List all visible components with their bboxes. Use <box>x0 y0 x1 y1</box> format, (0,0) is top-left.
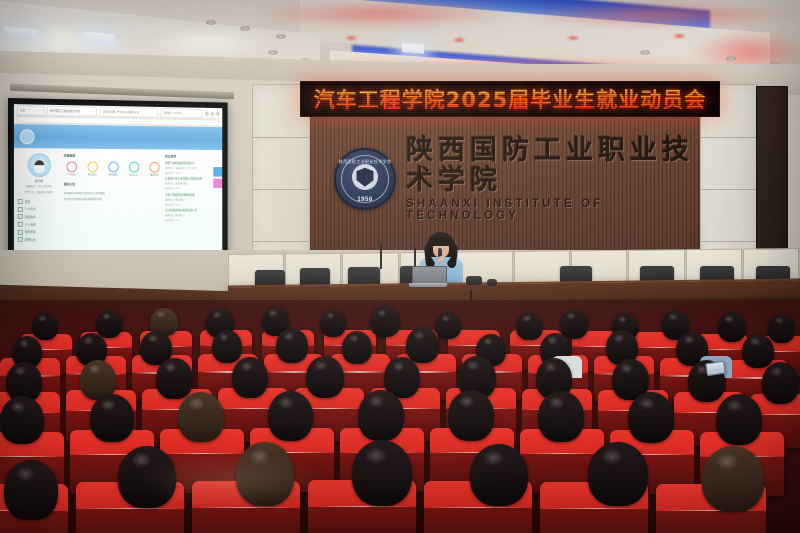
job-detail: 招聘岗位：新能源检测员 <box>165 181 218 185</box>
sidebar-item-home[interactable]: 首页 <box>18 199 60 204</box>
sidebar-menu[interactable]: 首页 个人信息 就业协议 个人简历 我的投递 招聘信息 <box>18 199 60 242</box>
job-title: 吉利汽车集团宝鸡制造基地 <box>165 192 218 196</box>
audience-head <box>232 357 268 398</box>
led-banner: 汽车工程学院2025届毕业生就业动员会 <box>300 81 720 117</box>
quick-action-destination[interactable]: 就业去向 <box>126 162 141 177</box>
job-date: 发布时间：03-15 <box>165 202 218 206</box>
profile-meta-major: 所学专业：新能源汽车技术 <box>25 191 53 195</box>
sidebar-item-label: 招聘信息 <box>25 237 36 241</box>
audience-head <box>178 392 224 442</box>
audience-head <box>0 396 44 444</box>
audience-head <box>435 312 461 339</box>
notices-title: 通知公告 <box>64 182 162 186</box>
audience-head <box>32 312 58 340</box>
sidebar-item-applications[interactable]: 我的投递 <box>18 229 60 234</box>
job-title: 法士特齿轮传动有限责任公司 <box>165 208 218 212</box>
laptop <box>409 266 447 288</box>
school-signage: 陕西国防工业职业技术学院 ★★★ 1958 陕西国防工业职业技术学院 SHAAN… <box>334 146 714 212</box>
send-icon <box>18 229 23 234</box>
red-accent-lamp <box>672 34 686 38</box>
audience-head <box>762 362 799 404</box>
laptop-keyboard <box>409 283 447 287</box>
light-reflection <box>140 450 320 510</box>
panel-lamp <box>402 43 424 54</box>
quick-action-resume[interactable]: 我的简历 <box>85 162 100 177</box>
red-accent-lamp <box>452 38 466 42</box>
quick-action-label: 我的简历 <box>88 174 97 177</box>
sidebar-item-label: 首页 <box>25 200 30 204</box>
profile-name: 张同学 <box>35 179 44 183</box>
red-accent-lamp <box>344 36 358 40</box>
job-detail: 招聘岗位：机加操作工 <box>165 213 218 217</box>
audience-head <box>628 392 674 443</box>
home-icon <box>18 199 23 204</box>
downlight <box>640 50 650 55</box>
profile-meta-department: 所属院系：汽车工程学院 <box>26 185 52 189</box>
sidebar-item-label: 就业协议 <box>25 215 36 219</box>
browser-tab[interactable]: 首页 <box>17 105 44 115</box>
job-detail: 招聘岗位：装配技术员 | 生产技术员 <box>165 165 218 169</box>
audience-head <box>156 358 193 399</box>
auditorium-scene: 汽车工程学院2025届毕业生就业动员会 陕西国防工业职业技术学院 ★★★ 195… <box>0 0 800 533</box>
bell-circle-icon <box>149 162 159 173</box>
audience-head <box>4 460 58 520</box>
audience-head <box>742 334 774 368</box>
quick-action-label: 通知消息 <box>150 174 158 177</box>
quick-action-notice[interactable]: 通知消息 <box>147 162 162 177</box>
audience-head <box>448 390 494 441</box>
school-emblem-icon: 陕西国防工业职业技术学院 ★★★ 1958 <box>334 148 396 210</box>
avatar <box>27 153 50 177</box>
doc-icon <box>18 214 23 219</box>
microphone-stand <box>380 243 382 269</box>
quick-action-label: 签约管理 <box>109 174 118 177</box>
sidebar-item-personal-info[interactable]: 个人信息 <box>18 207 60 212</box>
job-title: 比亚迪汽车工业有限公司西安基地 <box>165 176 218 180</box>
downlight <box>206 20 216 25</box>
browser-tab[interactable]: 陕西国防工业职业技术学院 <box>47 105 97 116</box>
sidebar-item-jobs[interactable]: 招聘信息 <box>18 237 60 242</box>
contract-circle-icon <box>108 162 118 173</box>
qr-code-widget-icon[interactable] <box>213 167 222 177</box>
list-item[interactable]: 关于做好2025届毕业生就业工作的通知 <box>64 191 162 195</box>
audience-head <box>702 446 764 512</box>
audience-head <box>560 309 588 339</box>
speaker-hand <box>438 256 444 262</box>
browser-tab-active[interactable]: 就业信息网 - 毕业生就业服务平台 <box>100 106 158 117</box>
job-date: 发布时间：03-18 <box>165 170 218 174</box>
destination-circle-icon <box>129 162 139 173</box>
audience-head <box>358 390 404 441</box>
user-icon <box>18 207 23 212</box>
feedback-widget-icon[interactable] <box>213 178 222 188</box>
job-detail: 招聘岗位：整车调试工 <box>165 197 218 201</box>
audience-head <box>268 391 313 441</box>
sidebar-item-agreement[interactable]: 就业协议 <box>18 214 60 219</box>
audience-head <box>716 394 762 445</box>
desk-object <box>466 276 482 285</box>
audience-head <box>406 327 439 363</box>
quick-actions-title: 快捷通道 <box>64 153 162 158</box>
downlight <box>276 34 286 39</box>
quick-action-contract[interactable]: 签约管理 <box>106 162 121 177</box>
list-item[interactable]: 关于毕业生离校手续办理流程的说明 <box>64 197 162 201</box>
quick-actions-row[interactable]: 个人信息 我的简历 签约管理 就业去向 <box>64 161 162 176</box>
quick-action-label: 个人信息 <box>67 174 76 177</box>
quick-action-personal-info[interactable]: 个人信息 <box>64 161 79 176</box>
audience-head <box>96 310 122 338</box>
audience-head <box>470 444 528 506</box>
school-name-chinese: 陕西国防工业职业技术学院 <box>406 136 714 195</box>
audience-head <box>370 306 400 337</box>
audience-head <box>538 391 584 442</box>
audience-seating <box>0 300 800 533</box>
sidebar-item-label: 个人简历 <box>25 222 36 226</box>
site-logo-icon <box>20 129 35 144</box>
list-item[interactable]: 陕西汽车控股集团有限公司 招聘岗位：装配技术员 | 生产技术员 发布时间：03-… <box>165 161 218 175</box>
quick-action-label: 就业去向 <box>129 174 138 177</box>
audience-head <box>276 328 308 363</box>
ceiling-light-glow <box>150 24 270 58</box>
profile-circle-icon <box>66 161 77 172</box>
jobs-title: 职位推荐 <box>165 154 218 158</box>
list-item[interactable]: 法士特齿轮传动有限责任公司 招聘岗位：机加操作工 发布时间：03-14 <box>165 208 218 222</box>
notices-list[interactable]: 关于做好2025届毕业生就业工作的通知 关于毕业生离校手续办理流程的说明 <box>64 191 162 201</box>
led-banner-text: 汽车工程学院2025届毕业生就业动员会 <box>314 84 706 114</box>
speaker-fringe <box>430 237 452 246</box>
list-item[interactable]: 比亚迪汽车工业有限公司西安基地 招聘岗位：新能源检测员 发布时间：03-17 <box>165 176 218 190</box>
audience-head <box>516 312 543 340</box>
minimize-icon[interactable] <box>205 111 209 115</box>
maximize-icon[interactable] <box>211 111 215 115</box>
job-date: 发布时间：03-14 <box>165 218 218 222</box>
list-icon <box>18 237 23 242</box>
emblem-year: 1958 <box>357 197 372 203</box>
sidebar-item-label: 个人信息 <box>25 207 36 211</box>
resume-circle-icon <box>87 162 97 173</box>
resume-icon <box>18 222 23 227</box>
floating-widgets[interactable] <box>213 167 222 188</box>
audience-head <box>352 440 412 506</box>
downlight <box>726 56 736 61</box>
smartphone <box>705 361 726 377</box>
job-title: 陕西汽车控股集团有限公司 <box>165 161 218 165</box>
job-date: 发布时间：03-17 <box>165 186 218 190</box>
audience-head <box>320 309 346 337</box>
downlight <box>268 50 278 55</box>
site-header-banner <box>14 124 222 150</box>
list-item[interactable]: 吉利汽车集团宝鸡制造基地 招聘岗位：整车调试工 发布时间：03-15 <box>165 192 218 206</box>
browser-tab[interactable]: 学生端 - 个人中心 <box>161 107 203 117</box>
audience-head <box>212 330 242 363</box>
sidebar-item-label: 我的投递 <box>25 230 36 234</box>
close-icon[interactable] <box>216 111 220 115</box>
downlight <box>240 26 250 31</box>
audience-head <box>90 394 134 442</box>
audience-head <box>768 314 795 343</box>
red-accent-lamp <box>566 36 580 40</box>
sidebar-item-resume[interactable]: 个人简历 <box>18 222 60 227</box>
audience-head <box>718 312 746 342</box>
audience-head <box>588 442 648 506</box>
audience-head <box>306 356 344 398</box>
school-name-english: SHAANXI INSTITUTE OF TECHNOLOGY <box>406 198 714 222</box>
desk-object <box>487 279 497 286</box>
audience-head <box>342 331 372 364</box>
window-controls[interactable] <box>205 111 219 115</box>
